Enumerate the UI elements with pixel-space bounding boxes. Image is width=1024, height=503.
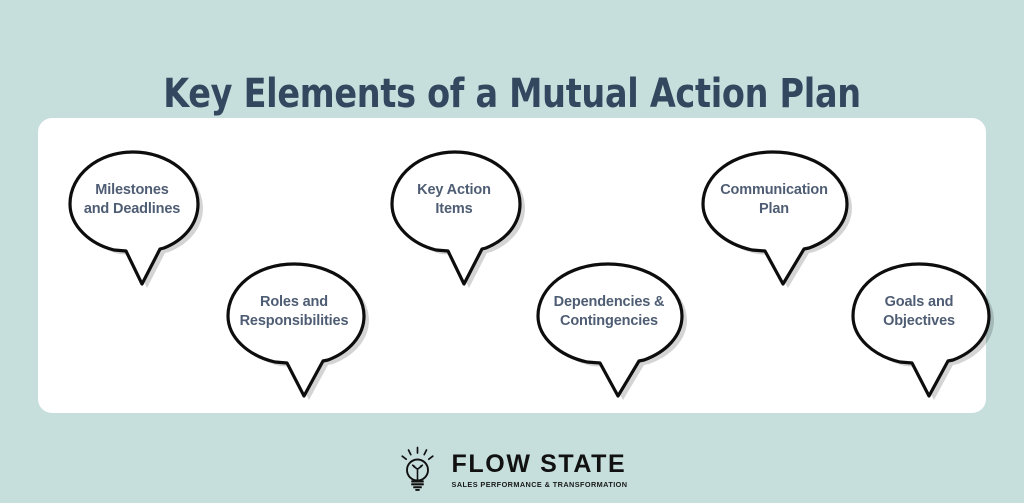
speech-bubble-dependencies-and-contingencies[interactable]: Dependencies & Contingencies	[528, 258, 688, 366]
speech-bubble-key-action-items[interactable]: Key Action Items	[382, 146, 526, 254]
speech-bubble-shape	[843, 258, 995, 366]
speech-bubble-roles-and-responsibilities[interactable]: Roles and Responsibilities	[218, 258, 370, 366]
speech-bubble-shape	[693, 146, 853, 254]
brand-name: FLOW STATE	[452, 451, 627, 477]
speech-bubble-milestones-and-deadlines[interactable]: Milestones and Deadlines	[60, 146, 204, 254]
infographic-poster: Key Elements of a Mutual Action Plan Mil…	[0, 0, 1024, 503]
content-card: Milestones and Deadlines Roles and Respo…	[38, 118, 986, 413]
speech-bubble-shape	[60, 146, 204, 254]
speech-bubble-shape	[218, 258, 370, 366]
brand-tagline: SALES PERFORMANCE & TRANSFORMATION	[452, 479, 628, 490]
speech-bubble-goals-and-objectives[interactable]: Goals and Objectives	[843, 258, 995, 366]
brand-logo-text: FLOW STATE SALES PERFORMANCE & TRANSFORM…	[452, 449, 628, 490]
speech-bubble-communication-plan[interactable]: Communication Plan	[693, 146, 853, 254]
speech-bubble-shape	[382, 146, 526, 254]
lightbulb-icon	[397, 446, 439, 492]
brand-logo: FLOW STATE SALES PERFORMANCE & TRANSFORM…	[0, 446, 1024, 492]
page-title: Key Elements of a Mutual Action Plan	[163, 71, 861, 117]
speech-bubble-shape	[528, 258, 688, 366]
